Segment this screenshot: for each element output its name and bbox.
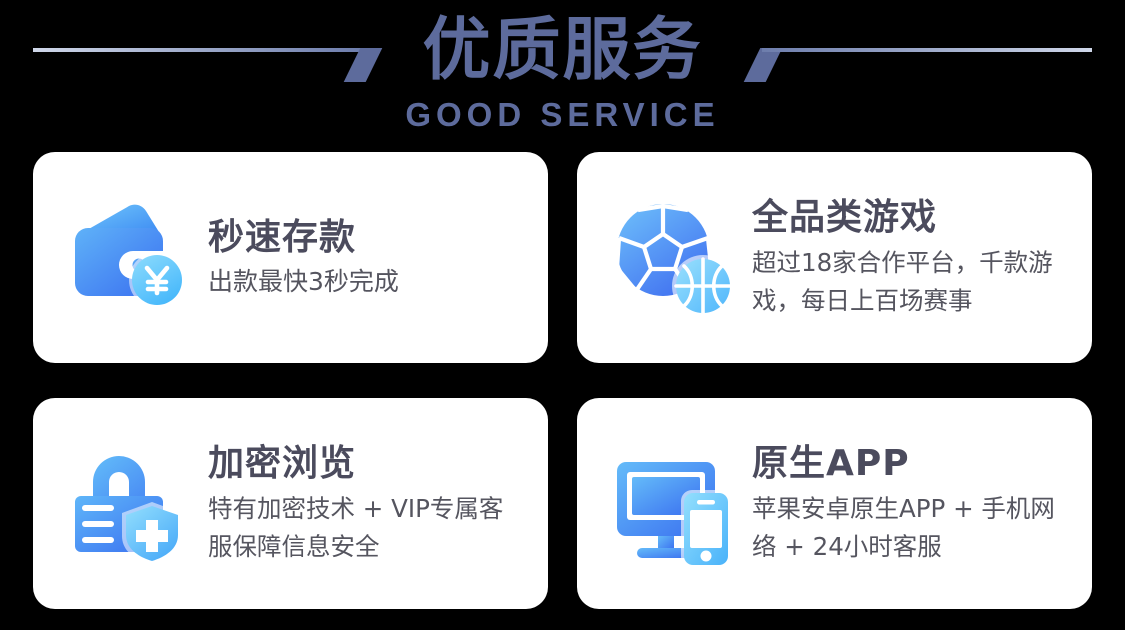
feature-card-text: 加密浏览 特有加密技术 + VIP专属客服保障信息安全 [208,442,524,566]
feature-card-title: 秒速存款 [208,216,524,260]
feature-card-games[interactable]: 全品类游戏 超过18家合作平台，千款游戏，每日上百场赛事 [577,152,1092,363]
feature-card-title: 原生APP [752,442,1068,486]
feature-card-encryption[interactable]: 加密浏览 特有加密技术 + VIP专属客服保障信息安全 [33,398,548,609]
wallet-yen-icon [63,190,198,325]
page-title-cn: 优质服务 [0,8,1125,94]
feature-card-desc: 特有加密技术 + VIP专属客服保障信息安全 [208,490,524,566]
feature-card-grid: 秒速存款 出款最快3秒完成 [33,152,1092,609]
feature-card-desc: 超过18家合作平台，千款游戏，每日上百场赛事 [752,244,1068,320]
feature-card-text: 秒速存款 出款最快3秒完成 [208,216,524,300]
soccer-basketball-icon [607,190,742,325]
lock-shield-icon [63,436,198,571]
feature-card-deposit[interactable]: 秒速存款 出款最快3秒完成 [33,152,548,363]
feature-card-native-app[interactable]: 原生APP 苹果安卓原生APP + 手机网络 + 24小时客服 [577,398,1092,609]
page-title-en: GOOD SERVICE [0,96,1125,134]
feature-card-text: 原生APP 苹果安卓原生APP + 手机网络 + 24小时客服 [752,442,1068,566]
feature-card-title: 全品类游戏 [752,196,1068,240]
feature-card-desc: 出款最快3秒完成 [208,264,524,300]
monitor-phone-icon [607,436,742,571]
feature-card-desc: 苹果安卓原生APP + 手机网络 + 24小时客服 [752,490,1068,566]
feature-card-text: 全品类游戏 超过18家合作平台，千款游戏，每日上百场赛事 [752,196,1068,320]
feature-card-title: 加密浏览 [208,442,524,486]
page-header: 优质服务 GOOD SERVICE [0,0,1125,150]
